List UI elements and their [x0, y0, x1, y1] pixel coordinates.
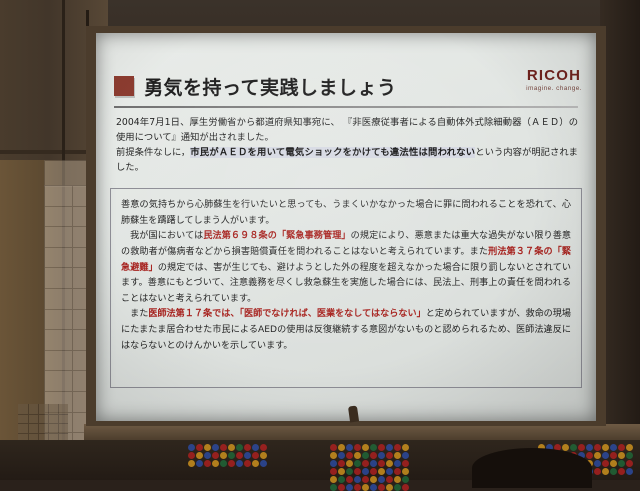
bead — [570, 444, 577, 451]
bead — [346, 452, 353, 459]
bead — [252, 444, 259, 451]
bead — [618, 452, 625, 459]
bead — [260, 444, 267, 451]
bead — [370, 468, 377, 475]
bead — [362, 460, 369, 467]
bead-strand — [196, 444, 203, 467]
projection-screen: 勇気を持って実践しましょう RICOH imagine. change. 200… — [96, 33, 596, 421]
bead — [618, 444, 625, 451]
bead — [252, 452, 259, 459]
bead — [618, 468, 625, 475]
bead — [386, 460, 393, 467]
bead — [196, 460, 203, 467]
bead — [330, 484, 337, 491]
presentation-slide: 勇気を持って実践しましょう RICOH imagine. change. 200… — [96, 33, 596, 421]
body-paragraph-3: また医師法第１７条では、「医師でなければ、医業をなしてはならない」と定められてい… — [121, 307, 571, 354]
bead — [602, 460, 609, 467]
bead — [362, 452, 369, 459]
grid-panel — [18, 404, 68, 442]
bead — [594, 444, 601, 451]
bead — [228, 460, 235, 467]
bead-strand — [394, 444, 401, 491]
bead — [594, 460, 601, 467]
bead — [188, 452, 195, 459]
bead-strand — [212, 444, 219, 467]
bead — [618, 460, 625, 467]
bead — [196, 452, 203, 459]
intro-line-2-prefix: 前提条件なしに， — [116, 147, 190, 158]
bead — [346, 444, 353, 451]
bead — [354, 452, 361, 459]
bead-strand — [236, 444, 243, 467]
bead — [204, 460, 211, 467]
bead-strand — [362, 444, 369, 491]
body-text-box: 善意の気持ちから心肺蘇生を行いたいと思っても、うまくいかなかった場合に罪に問われ… — [110, 188, 582, 388]
bead — [338, 484, 345, 491]
bead-strand — [378, 444, 385, 491]
bead — [244, 460, 251, 467]
bead — [244, 444, 251, 451]
bead-strand — [220, 444, 227, 467]
bead — [578, 444, 585, 451]
bead-strand — [252, 444, 259, 467]
bead — [354, 444, 361, 451]
logo-wordmark: RICOH — [526, 67, 582, 84]
bead — [354, 468, 361, 475]
bead — [236, 452, 243, 459]
bead — [196, 444, 203, 451]
calendar-cell — [45, 330, 73, 350]
bead — [626, 460, 633, 467]
calendar-cell — [45, 248, 73, 268]
bead — [330, 460, 337, 467]
bead — [370, 452, 377, 459]
bead — [346, 460, 353, 467]
bead — [586, 444, 593, 451]
bead — [386, 484, 393, 491]
logo-tagline: imagine. change. — [526, 85, 582, 92]
bead — [378, 484, 385, 491]
bead — [346, 484, 353, 491]
intro-line-1: 2004年7月1日、厚生労働省から都道府県知事宛に、 『非医療従事者による自動体… — [116, 117, 578, 143]
bead — [378, 452, 385, 459]
bead — [378, 444, 385, 451]
bead — [204, 444, 211, 451]
p3-text-a: また — [130, 309, 148, 319]
bead-strand — [610, 444, 617, 475]
shelf-ledge — [84, 424, 640, 440]
bead — [212, 452, 219, 459]
bead-strand — [330, 444, 337, 491]
grid-line — [18, 423, 68, 424]
bead — [338, 452, 345, 459]
foreground-silhouette — [472, 448, 592, 488]
bead — [602, 444, 609, 451]
bead — [626, 468, 633, 475]
bead — [220, 460, 227, 467]
bead — [212, 444, 219, 451]
bead-strand — [402, 444, 409, 491]
intro-paragraph: 2004年7月1日、厚生労働省から都道府県知事宛に、 『非医療従事者による自動体… — [116, 115, 578, 175]
bead-strand — [260, 444, 267, 467]
bead — [188, 444, 195, 451]
bead — [260, 460, 267, 467]
bead — [354, 484, 361, 491]
bead — [586, 452, 593, 459]
red-square-bullet-icon — [114, 76, 134, 96]
bead-strand — [188, 444, 195, 467]
bead — [626, 452, 633, 459]
body-paragraph-1: 善意の気持ちから心肺蘇生を行いたいと思っても、うまくいかなかった場合に罪に問われ… — [121, 198, 571, 229]
ricoh-logo: RICOH imagine. change. — [526, 67, 582, 92]
calendar-cell — [45, 371, 73, 391]
calendar-cell — [45, 186, 73, 206]
bead — [204, 452, 211, 459]
right-wall-edge — [600, 0, 640, 480]
bead — [228, 444, 235, 451]
bead — [362, 484, 369, 491]
bead — [370, 444, 377, 451]
bead — [610, 452, 617, 459]
bead — [378, 468, 385, 475]
bead — [220, 452, 227, 459]
grid-line — [18, 433, 68, 434]
bead — [338, 460, 345, 467]
intro-highlight: 市民がＡＥＤを用いて電気ショックをかけても違法性は問われない — [190, 147, 475, 158]
body-paragraph-2: 我が国においては民法第６９８条の「緊急事務管理」の規定により、悪意または重大な過… — [121, 229, 571, 307]
bead — [386, 452, 393, 459]
bead-strand — [626, 444, 633, 475]
bead — [362, 444, 369, 451]
p2-text-a: 我が国においては — [130, 231, 203, 241]
bead — [370, 484, 377, 491]
bead — [402, 452, 409, 459]
bead-strand — [346, 444, 353, 491]
bead — [362, 468, 369, 475]
bead — [394, 444, 401, 451]
calendar-cell — [45, 207, 73, 227]
bead — [188, 460, 195, 467]
bead-strand — [228, 444, 235, 467]
bead — [402, 468, 409, 475]
p2-emphasis-1: 民法第６９８条の「緊急事務管理」 — [203, 231, 350, 241]
title-divider — [114, 106, 578, 108]
bead-strand — [602, 444, 609, 475]
bead — [338, 468, 345, 475]
bead-strand — [244, 444, 251, 467]
hanging-bead-decorations — [188, 444, 267, 467]
bead — [394, 452, 401, 459]
bead — [252, 460, 259, 467]
bead-strand — [338, 444, 345, 491]
bead-strand — [370, 444, 377, 491]
bead — [354, 460, 361, 467]
bead — [338, 444, 345, 451]
bead — [220, 444, 227, 451]
bead — [610, 468, 617, 475]
bead — [602, 452, 609, 459]
bead — [370, 460, 377, 467]
bead-strand — [204, 444, 211, 467]
bead — [260, 452, 267, 459]
hanging-bead-decorations — [330, 444, 409, 491]
calendar-cell — [45, 310, 73, 330]
bead — [236, 444, 243, 451]
page-title: 勇気を持って実践しましょう — [144, 73, 397, 100]
bead — [610, 444, 617, 451]
bead — [626, 444, 633, 451]
bead — [330, 452, 337, 459]
bead-strand — [594, 444, 601, 475]
bead — [602, 468, 609, 475]
bead — [330, 468, 337, 475]
bead — [378, 460, 385, 467]
bead-strand — [386, 444, 393, 491]
bead — [386, 468, 393, 475]
calendar-cell — [45, 351, 73, 371]
bead — [402, 484, 409, 491]
grid-line — [18, 414, 68, 415]
bead — [228, 452, 235, 459]
bead — [346, 468, 353, 475]
calendar-cell — [45, 289, 73, 309]
bead — [394, 460, 401, 467]
bead — [236, 460, 243, 467]
bead — [244, 452, 251, 459]
calendar-cell — [45, 227, 73, 247]
bead-strand — [354, 444, 361, 491]
p2-text-c: の規定では、害が生じても、避けようとした外の程度を超えなかった場合に限り罰しない… — [121, 263, 571, 304]
bead-strand — [618, 444, 625, 475]
p3-emphasis-1: 医師法第１７条では、「医師でなければ、医業をなしてはならない」 — [148, 309, 425, 319]
bead — [402, 444, 409, 451]
bead — [212, 460, 219, 467]
bead — [386, 444, 393, 451]
bead — [330, 444, 337, 451]
bead — [610, 460, 617, 467]
bead — [394, 468, 401, 475]
calendar-cell — [45, 268, 73, 288]
bead — [402, 460, 409, 467]
bead — [394, 484, 401, 491]
bead — [594, 452, 601, 459]
bead — [594, 468, 601, 475]
slide-title-row: 勇気を持って実践しましょう — [114, 69, 578, 103]
